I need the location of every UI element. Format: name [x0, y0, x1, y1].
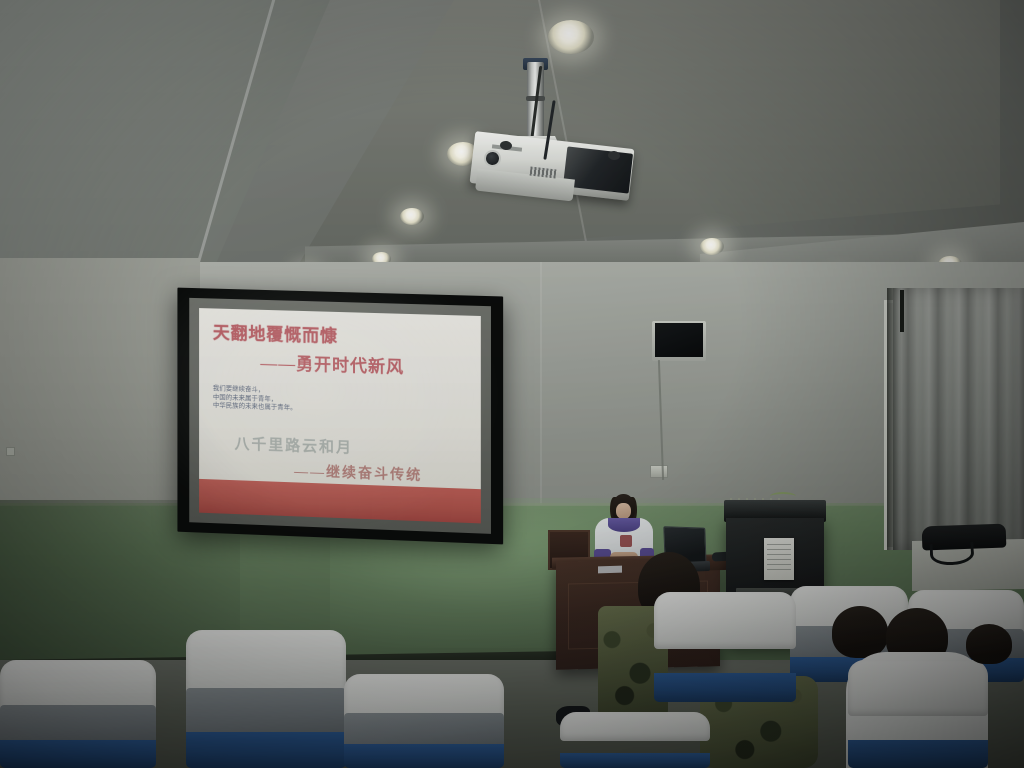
seat-cover: [560, 712, 710, 741]
light-switch[interactable]: [6, 447, 15, 456]
presenter-badge: [620, 535, 632, 547]
seat-front-right[interactable]: [848, 660, 988, 768]
ceiling-downlight-1: [548, 20, 594, 54]
seat-foreground-far[interactable]: [560, 712, 710, 768]
side-wall-left: [0, 258, 200, 518]
seat-center-front[interactable]: [654, 592, 796, 702]
wall-outlet-box[interactable]: [650, 465, 668, 478]
seat-base: [344, 744, 504, 768]
seat-foreground-left[interactable]: [0, 660, 156, 768]
slide-title-line2: ——勇开时代新风: [213, 347, 469, 380]
window-curtain[interactable]: [893, 288, 1024, 550]
slide-title-line1: 天翻地覆慨而慷: [213, 318, 469, 350]
wainscot-divider-line: [0, 503, 1024, 506]
screen-surface: 天翻地覆慨而慷 ——勇开时代新风 我们要继续奋斗， 中国的未来属于青年， 中华民…: [199, 308, 481, 523]
curtain-shadow-edge: [887, 288, 901, 550]
audience-head-far-right: [966, 624, 1012, 664]
seat-base: [186, 732, 346, 768]
presentation-slide: 天翻地覆慨而慷 ——勇开时代新风 我们要继续奋斗， 中国的未来属于青年， 中华民…: [199, 308, 481, 523]
seat-cover: [654, 592, 796, 649]
wall-seam: [540, 262, 542, 506]
seat-base: [560, 753, 710, 768]
lecture-hall-photo: 天翻地覆慨而慷 ——勇开时代新风 我们要继续奋斗， 中国的未来属于青年， 中华民…: [0, 0, 1024, 768]
ceiling-downlight-5: [700, 238, 724, 255]
seat-foreground-center[interactable]: [186, 630, 346, 768]
seat-cover: [848, 660, 988, 716]
seat-base: [848, 740, 988, 768]
slide-body-text: 我们要继续奋斗， 中国的未来属于青年， 中华民族的未来也属于青年。: [213, 385, 469, 419]
ceiling-downlight-3: [400, 208, 424, 225]
slide-subtitle-line2: ——继续奋斗传统: [294, 460, 422, 485]
slide-subtitle-line1: 八千里路云和月: [235, 432, 353, 457]
seat-foreground-right[interactable]: [344, 674, 504, 768]
paper-on-podium: [598, 566, 622, 574]
wall-monitor-screen[interactable]: [655, 323, 703, 357]
curtain-rod-gap: [900, 290, 904, 332]
seat-base: [654, 673, 796, 702]
rack-notice-text-lines: [767, 544, 791, 574]
presenter-collar: [608, 518, 640, 532]
seat-base: [0, 740, 156, 768]
projection-screen[interactable]: 天翻地覆慨而慷 ——勇开时代新风 我们要继续奋斗， 中国的未来属于青年， 中华民…: [177, 288, 503, 545]
audience-head-right-a: [832, 606, 888, 658]
presenter-face: [616, 503, 631, 519]
